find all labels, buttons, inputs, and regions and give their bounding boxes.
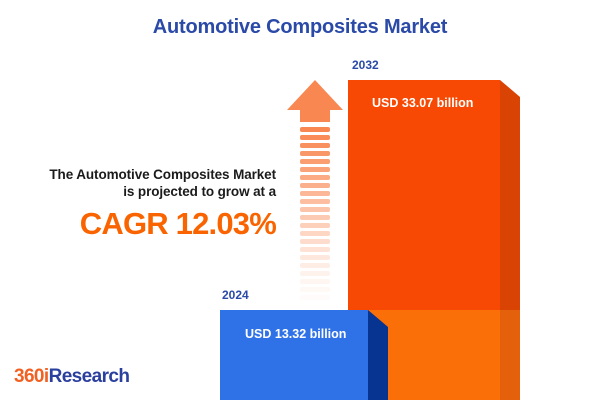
bar-2032-side-lower [500,310,520,400]
upward-growth-arrow-icon [285,79,345,304]
bar-2024-year-label: 2024 [222,288,249,302]
brand-logo: 360iResearch [14,366,129,388]
logo-mark-text: 360i [14,366,49,387]
page-title: Automotive Composites Market [0,16,600,39]
logo-name-text: Research [49,366,130,387]
bar-2024-value-label: USD 13.32 billion [245,327,346,341]
cagr-statement-line-2: is projected to grow at a [14,183,276,200]
cagr-value: CAGR 12.03% [14,207,276,241]
bar-2024-front [220,310,368,400]
cagr-statement-block: The Automotive Composites Market is proj… [14,166,276,241]
cagr-statement-line-1: The Automotive Composites Market [14,166,276,183]
market-growth-infographic: Automotive Composites Market The Automot… [0,0,600,400]
bar-2032-front-upper [348,80,500,310]
bar-2032-value-label: USD 33.07 billion [372,96,473,110]
bar-2032-year-label: 2032 [352,58,379,72]
bar-2032-side-upper [500,80,520,310]
bar-2024 [220,310,388,400]
bar-2024-side [368,310,388,400]
